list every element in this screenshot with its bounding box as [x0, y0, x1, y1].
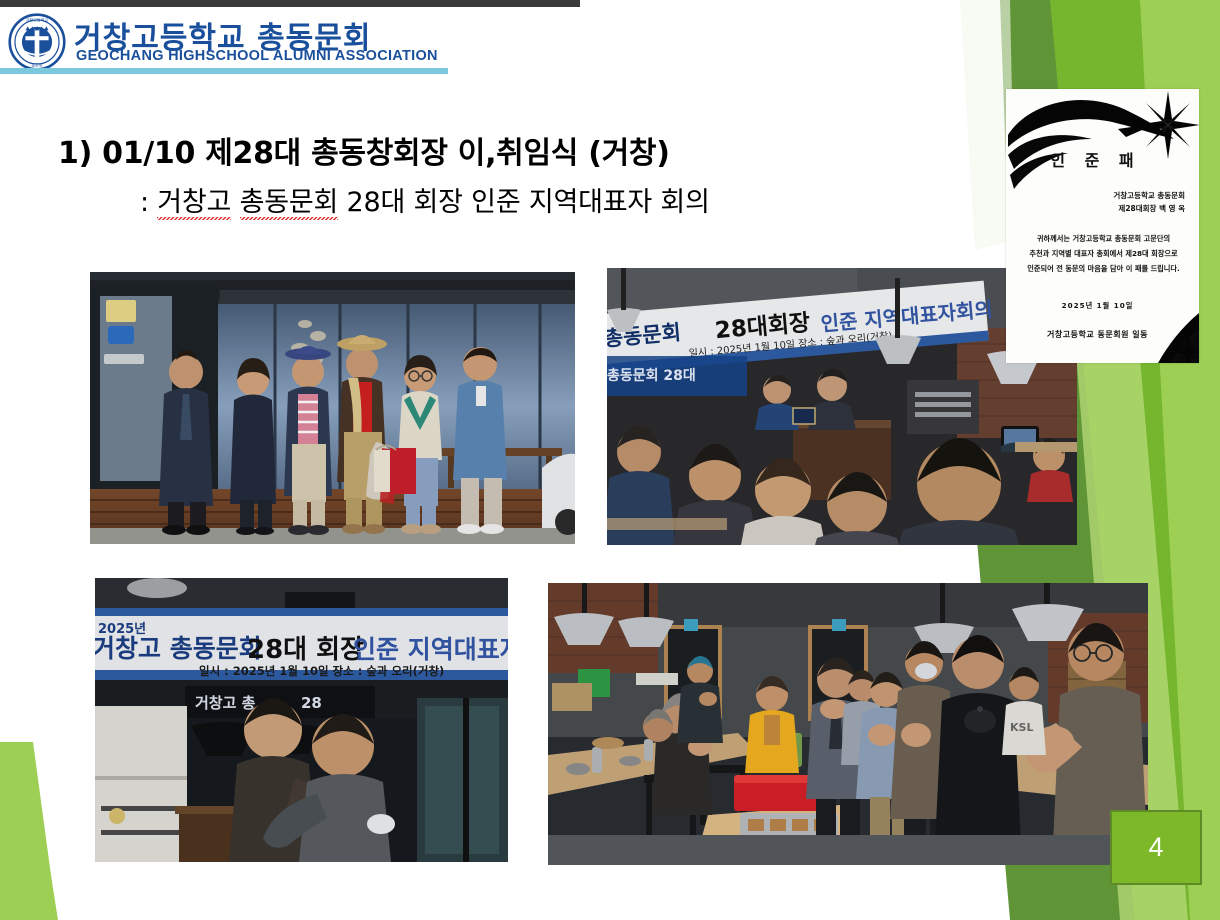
plaque-date: 2025년 1월 10일 — [1006, 301, 1189, 311]
page-number-badge: 4 — [1110, 810, 1202, 885]
top-accent-strip — [0, 0, 580, 7]
header: 거창고등학교 동문회 거창고등학교 총동문회 GEOCHANG HIGHSCHO… — [0, 7, 600, 75]
subtitle-rest: 28대 회장 인준 지역대표자 회의 — [338, 187, 710, 218]
plaque-title: 인 준 패 — [1006, 147, 1185, 171]
presentation-slide: 거창고등학교 동문회 거창고등학교 총동문회 GEOCHANG HIGHSCHO… — [0, 0, 1220, 920]
certificate-plaque: 인 준 패 거창고등학교 총동문회 제28대회장 백 영 옥 귀하께서는 거창고… — [1006, 89, 1199, 363]
header-divider-rule — [0, 68, 448, 74]
plaque-recipient-line-1: 거창고등학교 총동문회 — [1113, 189, 1185, 202]
plaque-body-line-2: 추천과 지역별 대표자 총회에서 제28대 회장으로 — [1022, 247, 1185, 262]
applause-photo: KSL — [548, 583, 1148, 865]
subtitle-prefix: : — [140, 187, 157, 218]
school-crest-icon: 거창고등학교 동문회 — [8, 13, 66, 71]
plaque-issuer: 거창고등학교 동문회원 일동 — [1006, 329, 1189, 340]
subtitle-word-alumni: 총동문회 — [240, 180, 339, 219]
svg-text:거창고등학교: 거창고등학교 — [26, 17, 49, 23]
group-photo-outside — [90, 272, 575, 544]
logo-title-english: GEOCHANG HIGHSCHOOL ALUMNI ASSOCIATION — [76, 48, 438, 64]
svg-text:동문회: 동문회 — [31, 61, 42, 67]
plaque-body: 귀하께서는 거창고등학교 총동문회 고문단의 추천과 지역별 대표자 총회에서 … — [1022, 232, 1185, 276]
slide-subtitle: : 거창고 총동문회 28대 회장 인준 지역대표자 회의 — [140, 180, 710, 219]
plaque-recipient: 거창고등학교 총동문회 제28대회장 백 영 옥 — [1113, 189, 1185, 215]
plaque-body-line-3: 인준되어 전 동문의 마음을 담아 이 패를 드립니다. — [1022, 262, 1185, 277]
slide-title: 1) 01/10 제28대 총동창회장 이,취임식 (거창) — [58, 128, 670, 172]
embrace-photo: 2025년 거창고 총동문회 28대 회장 인준 지역대표자 일시 : 2025… — [95, 578, 508, 862]
plaque-decorative-swoosh — [1006, 89, 1199, 363]
plaque-recipient-line-2: 제28대회장 백 영 옥 — [1113, 202, 1185, 215]
plaque-body-line-1: 귀하께서는 거창고등학교 총동문회 고문단의 — [1022, 232, 1185, 247]
subtitle-word-geochanggo: 거창고 — [157, 180, 231, 219]
page-number-value: 4 — [1148, 832, 1163, 863]
